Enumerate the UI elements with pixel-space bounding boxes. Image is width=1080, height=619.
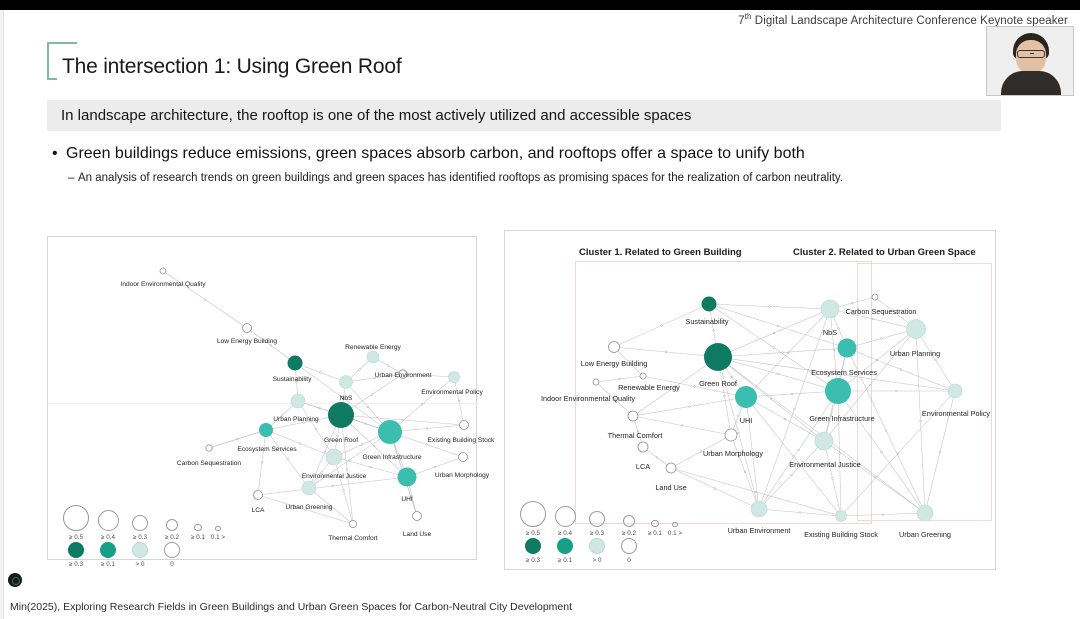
- network-node[interactable]: [838, 339, 857, 358]
- network-node-label: Environmental Policy: [421, 389, 483, 396]
- network-panel-left: Indoor Environmental QualityLow Energy B…: [47, 236, 477, 560]
- edge-midpoint-marker: [935, 359, 937, 361]
- edge-midpoint-marker: [897, 453, 899, 455]
- network-node[interactable]: [751, 501, 767, 517]
- bullet-level2: –An analysis of research trends on green…: [68, 172, 843, 184]
- edge-midpoint-marker: [343, 490, 345, 492]
- network-node[interactable]: [593, 379, 599, 385]
- edge-midpoint-marker: [839, 453, 841, 455]
- network-node-label: Renewable Energy: [618, 383, 680, 392]
- legend-color-label: ≥ 0.3: [62, 561, 90, 568]
- edge-midpoint-marker: [299, 443, 301, 445]
- edge-midpoint-marker: [724, 395, 726, 397]
- network-node[interactable]: [815, 432, 833, 450]
- network-node[interactable]: [609, 342, 620, 353]
- network-node[interactable]: [907, 320, 926, 339]
- network-node[interactable]: [254, 491, 263, 500]
- legend-color-circle: [132, 542, 148, 558]
- network-node[interactable]: [302, 481, 316, 495]
- legend-size-circle: [166, 519, 178, 531]
- edge-midpoint-marker: [782, 352, 784, 354]
- left-rail: [0, 10, 4, 619]
- legend-size-circle: [555, 506, 576, 527]
- network-node[interactable]: [725, 429, 737, 441]
- highlight-text: In landscape architecture, the rooftop i…: [61, 107, 691, 124]
- network-node-label: Green Infrastructure: [809, 414, 874, 423]
- network-node-label: Ecosystem Services: [237, 446, 296, 453]
- edge-midpoint-marker: [791, 393, 793, 395]
- edge-midpoint-marker: [874, 476, 876, 478]
- legend-size-circle: [651, 520, 658, 527]
- network-node-label: Urban Environment: [375, 372, 432, 379]
- legend-size-label: ≥ 0.5: [519, 530, 547, 537]
- edge-midpoint-marker: [881, 451, 883, 453]
- network-node-label: Low Energy Building: [581, 359, 648, 368]
- edge-midpoint-marker: [287, 458, 289, 460]
- edge-midpoint-marker: [458, 400, 460, 402]
- network-node-label: Renewable Energy: [345, 344, 401, 351]
- bullet-marker: •: [52, 145, 66, 163]
- edge-midpoint-marker: [794, 408, 796, 410]
- highlight-banner: In landscape architecture, the rooftop i…: [47, 100, 1001, 131]
- edge-midpoint-marker: [793, 456, 795, 458]
- network-node[interactable]: [340, 376, 353, 389]
- network-node[interactable]: [326, 449, 342, 465]
- edge-midpoint-marker: [371, 394, 373, 396]
- edge-midpoint-marker: [798, 449, 800, 451]
- network-node-label: Green Roof: [324, 437, 358, 444]
- network-node-label: Existing Building Stock: [804, 530, 878, 539]
- network-node-label: UHI: [740, 416, 753, 425]
- legend-color-label: 0: [158, 561, 186, 568]
- edge-midpoint-marker: [619, 378, 621, 380]
- network-node[interactable]: [702, 297, 717, 312]
- citation-text: Min(2025), Exploring Research Fields in …: [10, 601, 572, 613]
- edge-midpoint-marker: [773, 332, 775, 334]
- network-node[interactable]: [413, 512, 422, 521]
- network-node-label: UHI: [401, 496, 412, 503]
- edge-midpoint-marker: [700, 451, 702, 453]
- footer-bullet-icon: [8, 573, 22, 587]
- network-node-label: Low Energy Building: [217, 338, 277, 345]
- network-node-label: Environmental Policy: [922, 409, 990, 418]
- edge-midpoint-marker: [755, 491, 757, 493]
- edge-midpoint-marker: [367, 406, 369, 408]
- network-node-label: Land Use: [403, 531, 431, 538]
- edge-midpoint-marker: [738, 432, 740, 434]
- legend-color-label: > 0: [583, 557, 611, 564]
- edge-midpoint-marker: [784, 418, 786, 420]
- edge-midpoint-marker: [777, 373, 779, 375]
- edge-midpoint-marker: [346, 469, 348, 471]
- network-node-label: Green Infrastructure: [362, 454, 421, 461]
- legend-color-circle: [68, 542, 84, 558]
- network-node-label: Land Use: [655, 483, 686, 492]
- network-node[interactable]: [460, 421, 469, 430]
- network-node-label: NbS: [340, 395, 353, 402]
- conference-header: 7th Digital Landscape Architecture Confe…: [738, 12, 1068, 27]
- edge-midpoint-marker: [421, 404, 423, 406]
- legend-size-circle: [623, 515, 635, 527]
- edge-midpoint-marker: [881, 338, 883, 340]
- network-node-label: Urban Greening: [286, 504, 333, 511]
- legend-size-circle: [215, 526, 220, 531]
- network-node[interactable]: [288, 356, 303, 371]
- legend-size-label: ≥ 0.4: [94, 534, 122, 541]
- edge-midpoint-marker: [261, 462, 263, 464]
- legend-color-circle: [164, 542, 180, 558]
- legend-size-label: ≥ 0.2: [158, 534, 186, 541]
- network-node[interactable]: [206, 445, 212, 451]
- network-node[interactable]: [160, 268, 166, 274]
- legend-size-circle: [589, 511, 605, 527]
- edge-midpoint-marker: [689, 406, 691, 408]
- network-node[interactable]: [378, 420, 402, 444]
- slide-root: 7th Digital Landscape Architecture Confe…: [0, 0, 1080, 619]
- network-panel-right: Cluster 1. Related to Green Building Clu…: [504, 230, 996, 570]
- network-node-label: Urban Greening: [899, 530, 951, 539]
- speaker-torso: [1001, 71, 1061, 96]
- edge-midpoint-marker: [349, 459, 351, 461]
- legend-color-circle: [557, 538, 573, 554]
- legend-size-label: ≥ 0.3: [583, 530, 611, 537]
- network-node-label: Existing Building Stock: [428, 437, 495, 444]
- network-node-label: Carbon Sequestration: [177, 460, 241, 467]
- network-node-label: Green Roof: [699, 379, 737, 388]
- legend-color-circle: [589, 538, 605, 554]
- edge-midpoint-marker: [204, 299, 206, 301]
- glasses-icon: [1017, 50, 1045, 58]
- edge-midpoint-marker: [731, 376, 733, 378]
- network-node[interactable]: [243, 324, 252, 333]
- network-node-label: Urban Planning: [273, 416, 318, 423]
- edge-midpoint-marker: [656, 457, 658, 459]
- legend-color-label: ≥ 0.3: [519, 557, 547, 564]
- legend-color-circle: [525, 538, 541, 554]
- network-node[interactable]: [367, 351, 379, 363]
- network-node[interactable]: [638, 442, 648, 452]
- legend-size-circle: [63, 505, 89, 531]
- edge-midpoint-marker: [237, 438, 239, 440]
- edge-midpoint-marker: [373, 445, 375, 447]
- network-node[interactable]: [350, 521, 357, 528]
- edge-midpoint-marker: [665, 351, 667, 353]
- network-node[interactable]: [917, 505, 933, 521]
- legend-size-circle: [672, 522, 677, 527]
- edge-midpoint-marker: [332, 485, 334, 487]
- sub-bullet-marker: –: [68, 172, 78, 184]
- edge-midpoint-marker: [939, 451, 941, 453]
- network-node-label: Ecosystem Services: [811, 368, 877, 377]
- legend-size-circle: [98, 510, 119, 531]
- legend-size-circle: [194, 524, 201, 531]
- edge-midpoint-marker: [791, 474, 793, 476]
- network-node-label: Indoor Environmental Quality: [120, 281, 205, 288]
- edge-midpoint-marker: [324, 451, 326, 453]
- edge-midpoint-marker: [882, 514, 884, 516]
- edge-midpoint-marker: [359, 369, 361, 371]
- network-node[interactable]: [449, 372, 460, 383]
- page-title: The intersection 1: Using Green Roof: [62, 55, 401, 79]
- network-node[interactable]: [259, 423, 273, 437]
- network-node[interactable]: [836, 511, 847, 522]
- edge-midpoint-marker: [387, 365, 389, 367]
- edge-midpoint-marker: [900, 369, 902, 371]
- network-node[interactable]: [459, 453, 468, 462]
- network-node-label: NbS: [823, 328, 837, 337]
- network-node[interactable]: [821, 300, 839, 318]
- edge-midpoint-marker: [694, 386, 696, 388]
- legend-size-circle: [132, 515, 148, 531]
- network-node-label: Environmental Justice: [789, 460, 860, 469]
- network-node-label: LCA: [252, 507, 265, 514]
- edge-midpoint-marker: [713, 330, 715, 332]
- bullet-level2-text: An analysis of research trends on green …: [78, 172, 843, 184]
- legend-size-circle: [520, 501, 546, 527]
- edge-midpoint-marker: [426, 428, 428, 430]
- legend-size-label: ≥ 0.4: [551, 530, 579, 537]
- edge-midpoint-marker: [773, 347, 775, 349]
- edge-midpoint-marker: [681, 425, 683, 427]
- edge-midpoint-marker: [872, 318, 874, 320]
- legend-color-label: > 0: [126, 561, 154, 568]
- legend-color-label: 0: [615, 557, 643, 564]
- network-node-label: Thermal Comfort: [608, 431, 663, 440]
- network-node-label: Sustainability: [273, 376, 312, 383]
- network-node[interactable]: [328, 402, 354, 428]
- edge-midpoint-marker: [885, 430, 887, 432]
- network-node[interactable]: [398, 468, 417, 487]
- legend-size-label: ≥ 0.2: [615, 530, 643, 537]
- legend-size-label: 0.1 >: [204, 534, 232, 541]
- edge-midpoint-marker: [920, 420, 922, 422]
- edge-midpoint-marker: [744, 471, 746, 473]
- edge-midpoint-marker: [799, 512, 801, 514]
- network-node[interactable]: [640, 373, 646, 379]
- edge-midpoint-marker: [852, 302, 854, 304]
- bullet-level1-text: Green buildings reduce emissions, green …: [66, 145, 805, 162]
- legend-color-circle: [621, 538, 637, 554]
- legend-color-circle: [100, 542, 116, 558]
- edge-midpoint-marker: [769, 306, 771, 308]
- edge-midpoint-marker: [896, 390, 898, 392]
- network-node-label: Urban Environment: [728, 526, 791, 535]
- conference-ordinal: th: [745, 12, 752, 21]
- edge-midpoint-marker: [838, 328, 840, 330]
- network-node-label: Sustainability: [686, 317, 729, 326]
- edge-midpoint-marker: [320, 372, 322, 374]
- edge-midpoint-marker: [832, 478, 834, 480]
- network-node-label: Carbon Sequestration: [846, 307, 917, 316]
- network-node[interactable]: [704, 343, 732, 371]
- network-node[interactable]: [666, 463, 676, 473]
- top-black-bar: [0, 0, 1080, 10]
- network-node-label: Urban Morphology: [703, 449, 763, 458]
- legend-size-label: ≥ 0.5: [62, 534, 90, 541]
- edge-midpoint-marker: [402, 419, 404, 421]
- network-node[interactable]: [948, 384, 962, 398]
- edge-midpoint-marker: [869, 384, 871, 386]
- edge-midpoint-marker: [777, 325, 779, 327]
- edge-midpoint-marker: [770, 398, 772, 400]
- bullet-level1: •Green buildings reduce emissions, green…: [52, 145, 805, 163]
- legend-size-label: ≥ 0.3: [126, 534, 154, 541]
- network-node[interactable]: [872, 294, 878, 300]
- keynote-speaker-webcam[interactable]: [986, 26, 1074, 96]
- legend-color-label: ≥ 0.1: [551, 557, 579, 564]
- network-node[interactable]: [628, 411, 638, 421]
- network-node-label: Indoor Environmental Quality: [541, 394, 635, 403]
- network-node-label: Environmental Justice: [302, 473, 367, 480]
- network-node[interactable]: [825, 378, 851, 404]
- edge-midpoint-marker: [361, 444, 363, 446]
- edge-midpoint-marker: [315, 428, 317, 430]
- edge-midpoint-marker: [833, 349, 835, 351]
- edge-midpoint-marker: [434, 466, 436, 468]
- edge-midpoint-marker: [787, 352, 789, 354]
- network-node-label: Urban Morphology: [435, 472, 489, 479]
- network-node-label: Thermal Comfort: [328, 535, 377, 542]
- edge-midpoint-marker: [714, 488, 716, 490]
- edge-midpoint-marker: [661, 325, 663, 327]
- network-node[interactable]: [735, 386, 757, 408]
- network-node[interactable]: [291, 394, 305, 408]
- network-node-label: LCA: [636, 462, 650, 471]
- network-node-label: Urban Planning: [890, 349, 940, 358]
- legend-size-label: 0.1 >: [661, 530, 689, 537]
- edge-midpoint-marker: [370, 466, 372, 468]
- legend-color-label: ≥ 0.1: [94, 561, 122, 568]
